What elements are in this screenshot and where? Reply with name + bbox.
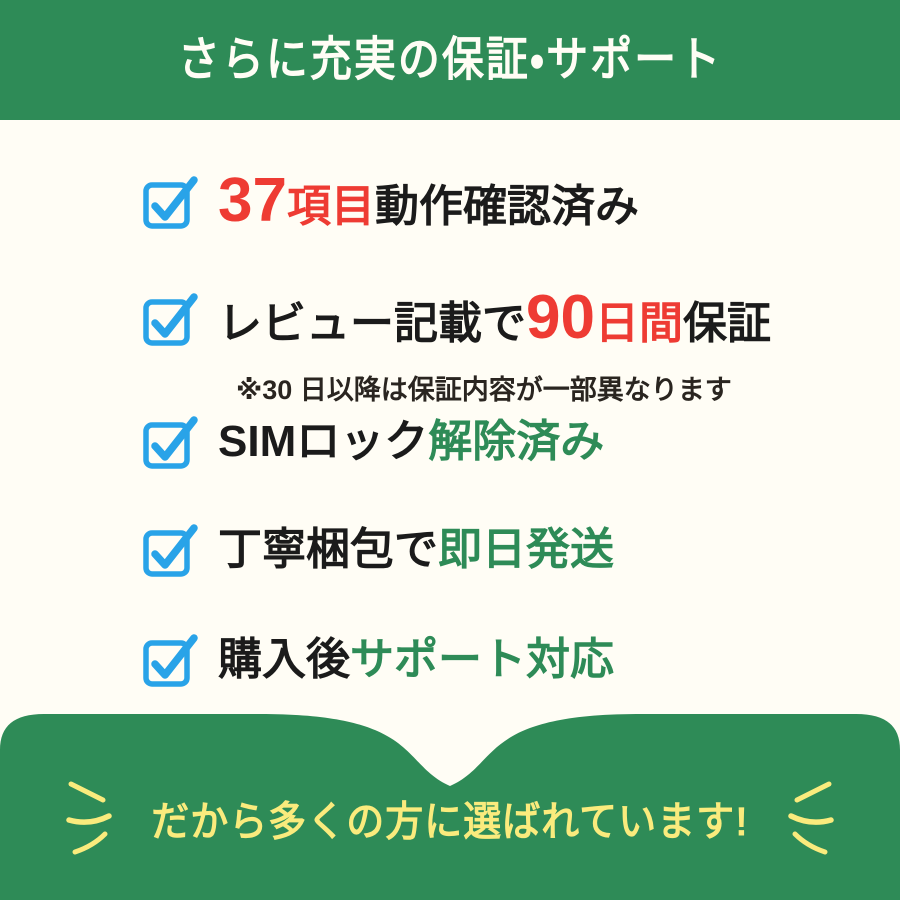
segment-0: 丁寧梱包で	[218, 528, 438, 572]
three-dashes-icon-left	[63, 774, 125, 860]
list-item-text: 購入後 サポート対応	[218, 638, 614, 682]
three-dashes-icon-right	[775, 774, 837, 860]
list-item-text: 丁寧梱包で 即日発送	[218, 528, 614, 572]
promo-banner: さらに充実の保証・サポート 37 項目 動作確認済み	[0, 0, 900, 900]
segment-0: レビュー記載で	[218, 302, 526, 346]
footer-text: だから多くの方に選ばれています!	[151, 787, 749, 846]
list-item: SIMロック 解除済み	[142, 415, 604, 469]
segment-1: 項目	[287, 185, 375, 229]
list-item-text: レビュー記載で 90 日間 保証	[218, 293, 771, 346]
checkbox-checked-icon	[142, 294, 196, 348]
segment-2: 日間	[595, 302, 683, 346]
checkbox-checked-icon	[142, 177, 196, 231]
segment-2: 動作確認済み	[375, 185, 639, 229]
list-item-text: SIMロック 解除済み	[218, 420, 604, 464]
page-title: さらに充実の保証・サポート	[178, 36, 722, 83]
segment-1: 即日発送	[438, 528, 614, 572]
list-item: 丁寧梱包で 即日発送	[142, 523, 614, 577]
segment-0: 37	[218, 176, 287, 226]
list-item: レビュー記載で 90 日間 保証	[142, 292, 771, 346]
checkbox-checked-icon	[142, 525, 196, 579]
segment-0: 購入後	[218, 638, 350, 682]
list-item: 購入後 サポート対応	[142, 633, 614, 687]
segment-3: 保証	[683, 302, 771, 346]
segment-1: 90	[526, 293, 595, 343]
checkbox-checked-icon	[142, 635, 196, 689]
list-item-text: 37 項目 動作確認済み	[218, 176, 639, 229]
list-item: 37 項目 動作確認済み	[142, 175, 639, 229]
segment-0: SIMロック	[218, 420, 428, 464]
segment-1: 解除済み	[428, 420, 604, 464]
segment-1: サポート対応	[350, 638, 614, 682]
checkbox-checked-icon	[142, 417, 196, 471]
warranty-note: ※30 日以降は保証内容が一部異なります	[236, 368, 732, 407]
feature-list: 37 項目 動作確認済み レビュー記載で 90 日間 保証 ※30 日以降は保証…	[0, 120, 900, 720]
header-band: さらに充実の保証・サポート	[0, 0, 900, 120]
footer-band: だから多くの方に選ばれています!	[0, 710, 900, 900]
